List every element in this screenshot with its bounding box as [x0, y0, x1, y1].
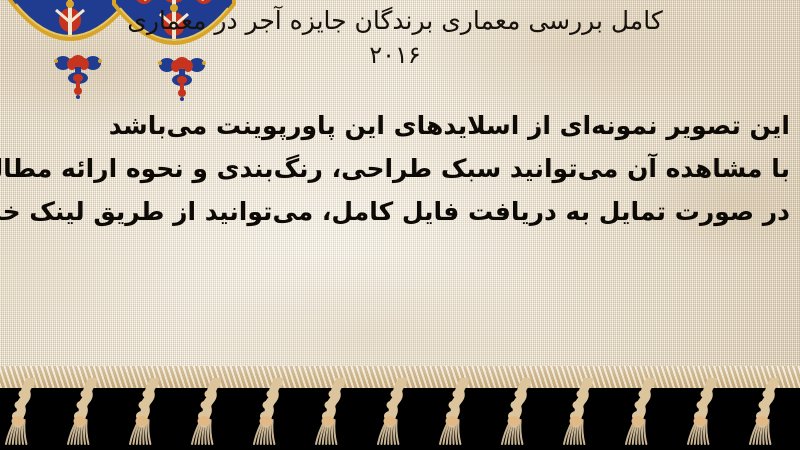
fringe-tassel [252, 378, 296, 450]
fringe-tassel [500, 378, 544, 450]
fringe-tassel [748, 378, 792, 450]
title-line-1: کامل بررسی معماری برندگان جایزه آجر در م… [0, 4, 790, 38]
fringe-tassel [4, 378, 48, 450]
body-line-1: این تصویر نمونه‌ای از اسلایدهای این پاور… [10, 104, 790, 147]
slide-body-text: این تصویر نمونه‌ای از اسلایدهای این پاور… [10, 104, 790, 233]
slide-canvas: کامل بررسی معماری برندگان جایزه آجر در م… [0, 0, 800, 450]
fringe-tassel [314, 378, 358, 450]
carpet-fringe [0, 366, 800, 450]
fringe-tassel [66, 378, 110, 450]
fringe-tassel [624, 378, 668, 450]
fringe-tassel [562, 378, 606, 450]
slide-title: کامل بررسی معماری برندگان جایزه آجر در م… [0, 4, 790, 72]
body-line-2: با مشاهده آن می‌توانید سبک طراحی، رنگ‌بن… [10, 147, 790, 190]
title-line-year: ۲۰۱۶ [0, 38, 790, 72]
fringe-tassel [376, 378, 420, 450]
fringe-tassel [128, 378, 172, 450]
fringe-tassel [190, 378, 234, 450]
fringe-tassel [438, 378, 482, 450]
body-line-3: در صورت تمایل به دریافت فایل کامل، می‌تو… [10, 190, 790, 233]
fringe-tassel [686, 378, 730, 450]
